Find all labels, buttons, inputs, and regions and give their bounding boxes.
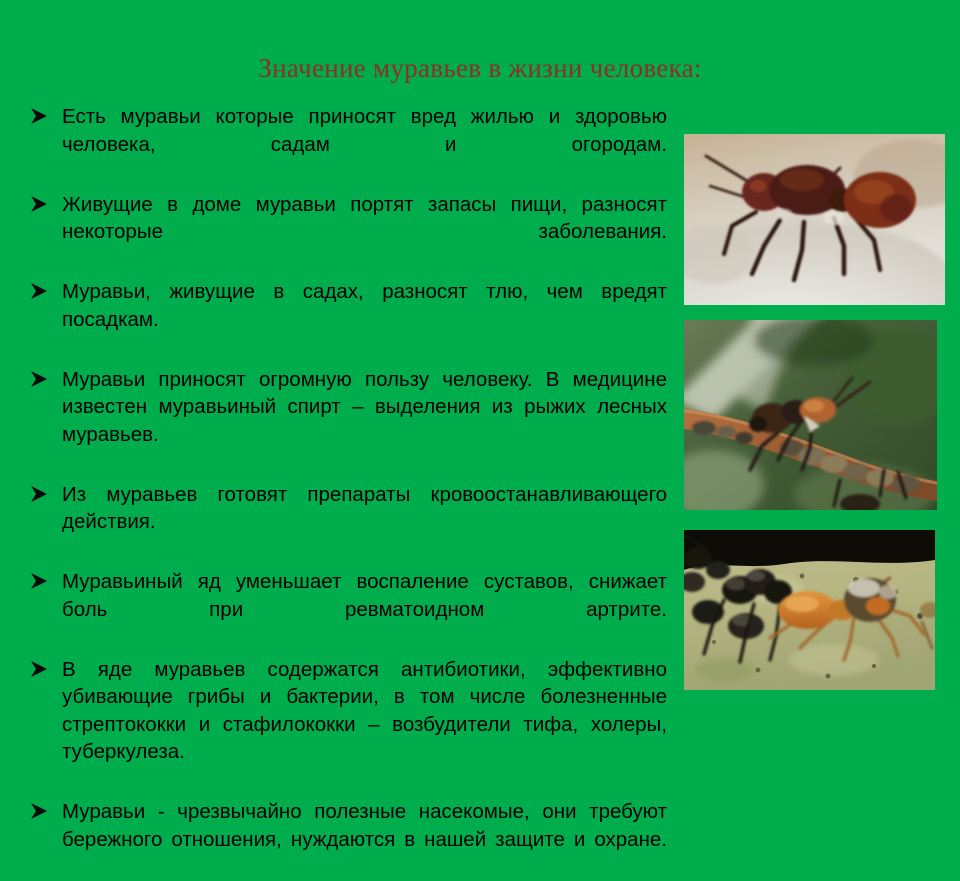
list-item: Есть муравьи которые приносят вред жилью… [22,103,667,186]
bullet-list: Есть муравьи которые приносят вред жилью… [22,103,667,881]
page-title: Значение муравьев в жизни человека: [0,52,960,84]
arrowhead-bullet-icon [28,483,50,505]
list-item-text: Муравьи - чрезвычайно полезные насекомые… [62,798,667,881]
arrowhead-bullet-icon [28,280,50,302]
list-item-text: Есть муравьи которые приносят вред жилью… [62,103,667,186]
list-item: Муравьи, живущие в садах, разносят тлю, … [22,278,667,361]
arrowhead-bullet-icon [28,658,50,680]
list-item: В яде муравьев содержатся антибиотики, э… [22,656,667,794]
arrowhead-bullet-icon [28,193,50,215]
arrowhead-bullet-icon [28,368,50,390]
photo-ants-group [684,530,935,690]
slide-root: Значение муравьев в жизни человека: Есть… [0,0,960,720]
list-item: Живущие в доме муравьи портят запасы пищ… [22,191,667,274]
list-item-text: Живущие в доме муравьи портят запасы пищ… [62,191,667,274]
arrowhead-bullet-icon [28,570,50,592]
arrowhead-bullet-icon [28,800,50,822]
list-item-text: Из муравьев готовят препараты кровоостан… [62,481,667,564]
list-item-text: Муравьи приносят огромную пользу человек… [62,366,667,476]
list-item: Муравьи приносят огромную пользу человек… [22,366,667,476]
photo-ant-with-aphids [684,320,937,510]
list-item: Из муравьев готовят препараты кровоостан… [22,481,667,564]
list-item-text: Муравьи, живущие в садах, разносят тлю, … [62,278,667,361]
arrowhead-bullet-icon [28,105,50,127]
list-item-text: Муравьиный яд уменьшает воспаление суста… [62,568,667,651]
list-item-text: В яде муравьев содержатся антибиотики, э… [62,656,667,794]
photo-single-ant [684,134,945,305]
list-item: Муравьи - чрезвычайно полезные насекомые… [22,798,667,881]
list-item: Муравьиный яд уменьшает воспаление суста… [22,568,667,651]
